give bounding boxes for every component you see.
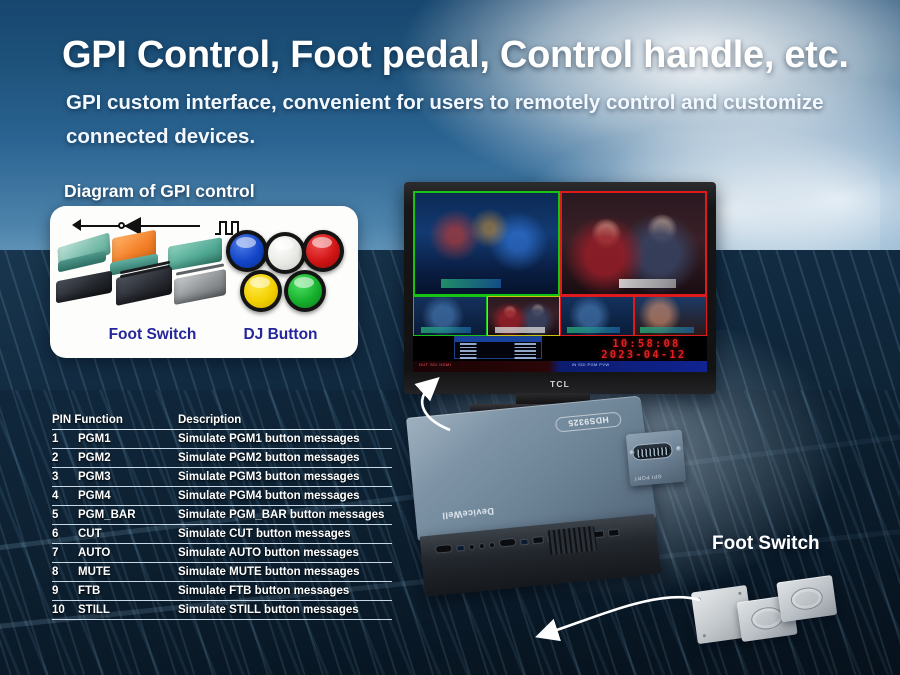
cell-pin: 10 — [52, 604, 78, 616]
cell-description: Simulate FTB button messages — [178, 585, 392, 597]
cell-pin: 6 — [52, 528, 78, 540]
audio-jack-icon[interactable] — [468, 544, 475, 551]
connector-pins — [637, 447, 670, 458]
multiview-source-3[interactable] — [560, 296, 634, 336]
pedal-grip-pattern-2 — [789, 586, 824, 612]
table-row: 5PGM_BARSimulate PGM_BAR button messages — [52, 506, 392, 525]
source3-lower-third — [567, 327, 621, 332]
lower-third-graphic — [441, 279, 501, 288]
dj-button-group — [226, 230, 344, 318]
dj-button-green[interactable] — [284, 270, 326, 312]
clock-date: 2023-04-12 — [601, 349, 686, 361]
usb-port-icon-2[interactable] — [520, 539, 529, 546]
cell-function: PGM4 — [78, 490, 178, 502]
switcher-brand-logo: DeviceWell — [441, 506, 494, 521]
cell-pin: 9 — [52, 585, 78, 597]
dj-button-caption: DJ Button — [218, 326, 343, 344]
table-row: 1PGM1Simulate PGM1 button messages — [52, 430, 392, 449]
multiview-source-1[interactable] — [413, 296, 487, 336]
audio-meter-box — [454, 336, 542, 358]
foot-switch-pedal-right[interactable] — [776, 575, 837, 622]
table-row: 9FTBSimulate FTB button messages — [52, 582, 392, 601]
table-header-row: PIN Function Description — [52, 411, 392, 430]
program-lower-third — [619, 279, 676, 288]
audio-jack-icon-2[interactable] — [479, 543, 486, 550]
table-body: 1PGM1Simulate PGM1 button messages2PGM2S… — [52, 430, 392, 620]
switcher-model-badge: HDS9325 — [555, 411, 622, 432]
cell-description: Simulate PGM2 button messages — [178, 452, 392, 464]
audio-meter-rows — [460, 343, 536, 356]
cell-description: Simulate AUTO button messages — [178, 547, 392, 559]
tcl-monitor: 10:58:08 2023-04-12 OUT SDI HDMI IN SDI … — [404, 182, 716, 394]
gpi-connector: GPI PORT — [626, 430, 686, 487]
cell-pin: 5 — [52, 509, 78, 521]
cell-pin: 2 — [52, 452, 78, 464]
multiview-preview-pane[interactable] — [413, 191, 560, 296]
cell-description: Simulate MUTE button messages — [178, 566, 392, 578]
cell-description: Simulate STILL button messages — [178, 604, 392, 616]
ethernet-port-icon[interactable] — [435, 544, 453, 554]
monitor-screen: 10:58:08 2023-04-12 OUT SDI HDMI IN SDI … — [413, 191, 707, 372]
table-row: 7AUTOSimulate AUTO button messages — [52, 544, 392, 563]
multiview-program-pane[interactable] — [560, 191, 707, 296]
page-subtitle: GPI custom interface, convenient for use… — [66, 86, 826, 154]
inverter-bubble-icon — [118, 222, 125, 229]
slide-root: GPI Control, Foot pedal, Control handle,… — [0, 0, 900, 675]
cell-description: Simulate PGM_BAR button messages — [178, 509, 392, 521]
diagram-title: Diagram of GPI control — [64, 181, 255, 202]
tcl-brand-logo: TCL — [404, 379, 716, 389]
table-row: 4PGM4Simulate PGM4 button messages — [52, 487, 392, 506]
table-row: 2PGM2Simulate PGM2 button messages — [52, 449, 392, 468]
dj-button-white[interactable] — [264, 232, 306, 274]
audio-jack-icon-3[interactable] — [489, 542, 496, 549]
cell-function: CUT — [78, 528, 178, 540]
cell-description: Simulate PGM4 button messages — [178, 490, 392, 502]
monitor-info-area: 10:58:08 2023-04-12 — [413, 336, 707, 361]
dj-button-red[interactable] — [302, 230, 344, 272]
source1-lower-third — [421, 327, 471, 332]
table-row: 6CUTSimulate CUT button messages — [52, 525, 392, 544]
multiview-source-4[interactable] — [634, 296, 708, 336]
cell-pin: 3 — [52, 471, 78, 483]
status-bar-right: IN SDI PGM PVW — [572, 362, 610, 367]
cell-function: FTB — [78, 585, 178, 597]
signal-diagram — [72, 214, 252, 236]
cell-description: Simulate PGM1 button messages — [178, 433, 392, 445]
hdmi-port-icon-1[interactable] — [532, 536, 544, 544]
cell-pin: 7 — [52, 547, 78, 559]
switcher-vent-grille — [548, 526, 597, 555]
pedal-black — [56, 271, 112, 304]
cell-description: Simulate PGM3 button messages — [178, 471, 392, 483]
table-row: 8MUTESimulate MUTE button messages — [52, 563, 392, 582]
page-title: GPI Control, Foot pedal, Control handle,… — [62, 34, 862, 77]
cell-pin: 1 — [52, 433, 78, 445]
cell-function: PGM2 — [78, 452, 178, 464]
cell-function: PGM3 — [78, 471, 178, 483]
cell-function: PGM1 — [78, 433, 178, 445]
multiview-source-2[interactable] — [487, 296, 561, 336]
pin-function-table: PIN Function Description 1PGM1Simulate P… — [52, 411, 392, 620]
cell-function: STILL — [78, 604, 178, 616]
cell-description: Simulate CUT button messages — [178, 528, 392, 540]
source2-lower-third — [495, 327, 545, 332]
status-bar-left: OUT SDI HDMI — [419, 362, 451, 367]
foot-switch-title: Foot Switch — [712, 533, 820, 555]
table-row: 10STILLSimulate STILL button messages — [52, 601, 392, 620]
dj-button-blue[interactable] — [226, 230, 268, 272]
foot-switch-caption: Foot Switch — [80, 326, 225, 344]
cell-function: AUTO — [78, 547, 178, 559]
cell-function: MUTE — [78, 566, 178, 578]
cell-function: PGM_BAR — [78, 509, 178, 521]
table-row: 3PGM3Simulate PGM3 button messages — [52, 468, 392, 487]
cell-pin: 4 — [52, 490, 78, 502]
audio-meter-title — [455, 337, 541, 342]
gpi-db15-port-icon[interactable] — [499, 538, 517, 548]
cell-pin: 8 — [52, 566, 78, 578]
source4-lower-third — [640, 327, 694, 332]
hdmi-port-icon-6[interactable] — [608, 529, 620, 537]
signal-line-tail — [142, 225, 200, 227]
header-pin-function: PIN Function — [52, 414, 178, 426]
gpi-diagram-card: Foot Switch DJ Button — [50, 206, 358, 358]
dj-button-yellow[interactable] — [240, 270, 282, 312]
header-description: Description — [178, 414, 392, 426]
monitor-status-bar: OUT SDI HDMI IN SDI PGM PVW — [413, 361, 707, 372]
usb-port-icon[interactable] — [456, 545, 465, 552]
devicewell-switcher: HDS9325 DeviceWell — [406, 396, 666, 618]
